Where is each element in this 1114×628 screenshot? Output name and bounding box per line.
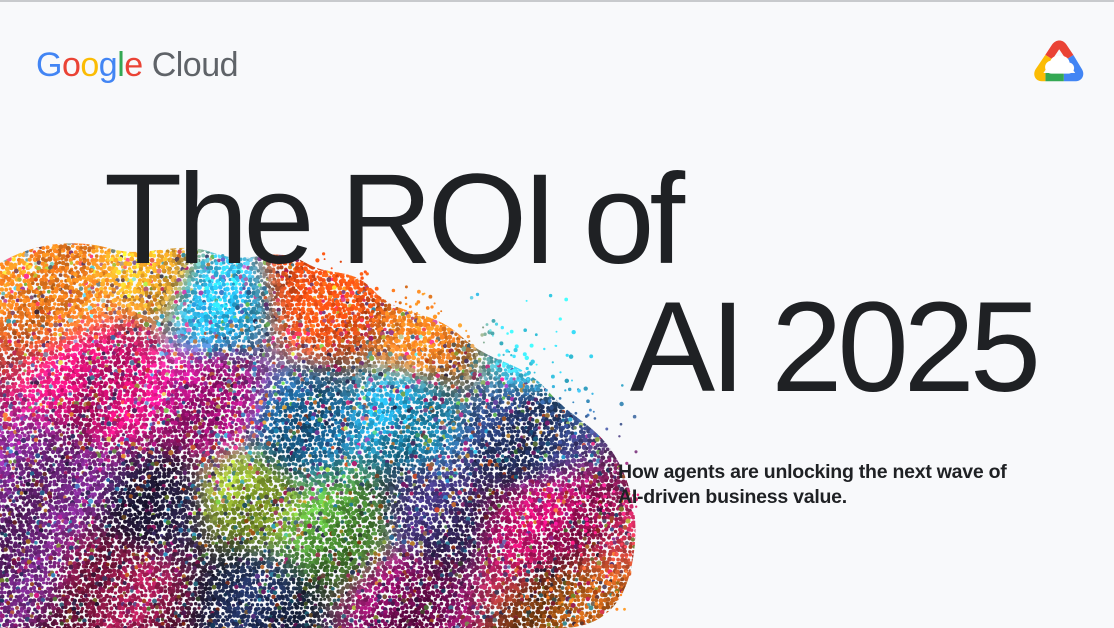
google-logo-letter-3: g [99,46,117,84]
page-header: GoogleCloud [0,2,1114,112]
cloud-wordmark: Cloud [152,46,238,84]
hero-title-line-1: The ROI of [104,162,680,278]
particle-spray [19,249,639,611]
hero-subtitle: How agents are unlocking the next wave o… [618,460,1018,510]
hero-title-line-2: AI 2025 [630,290,1036,406]
google-cloud-wordmark: GoogleCloud [36,48,238,82]
google-logo-letter-1: o [62,46,80,84]
google-logo-letter-0: G [36,46,62,84]
abstract-particle-sculpture [0,233,640,628]
google-logo-letter-2: o [80,46,98,84]
google-logo-letter-5: e [124,46,142,84]
pdf-page: GoogleCloud The ROI of AI 2025 How agent… [0,0,1114,628]
google-wordmark: Google [36,46,143,84]
google-cloud-mark-icon [1032,40,1086,86]
